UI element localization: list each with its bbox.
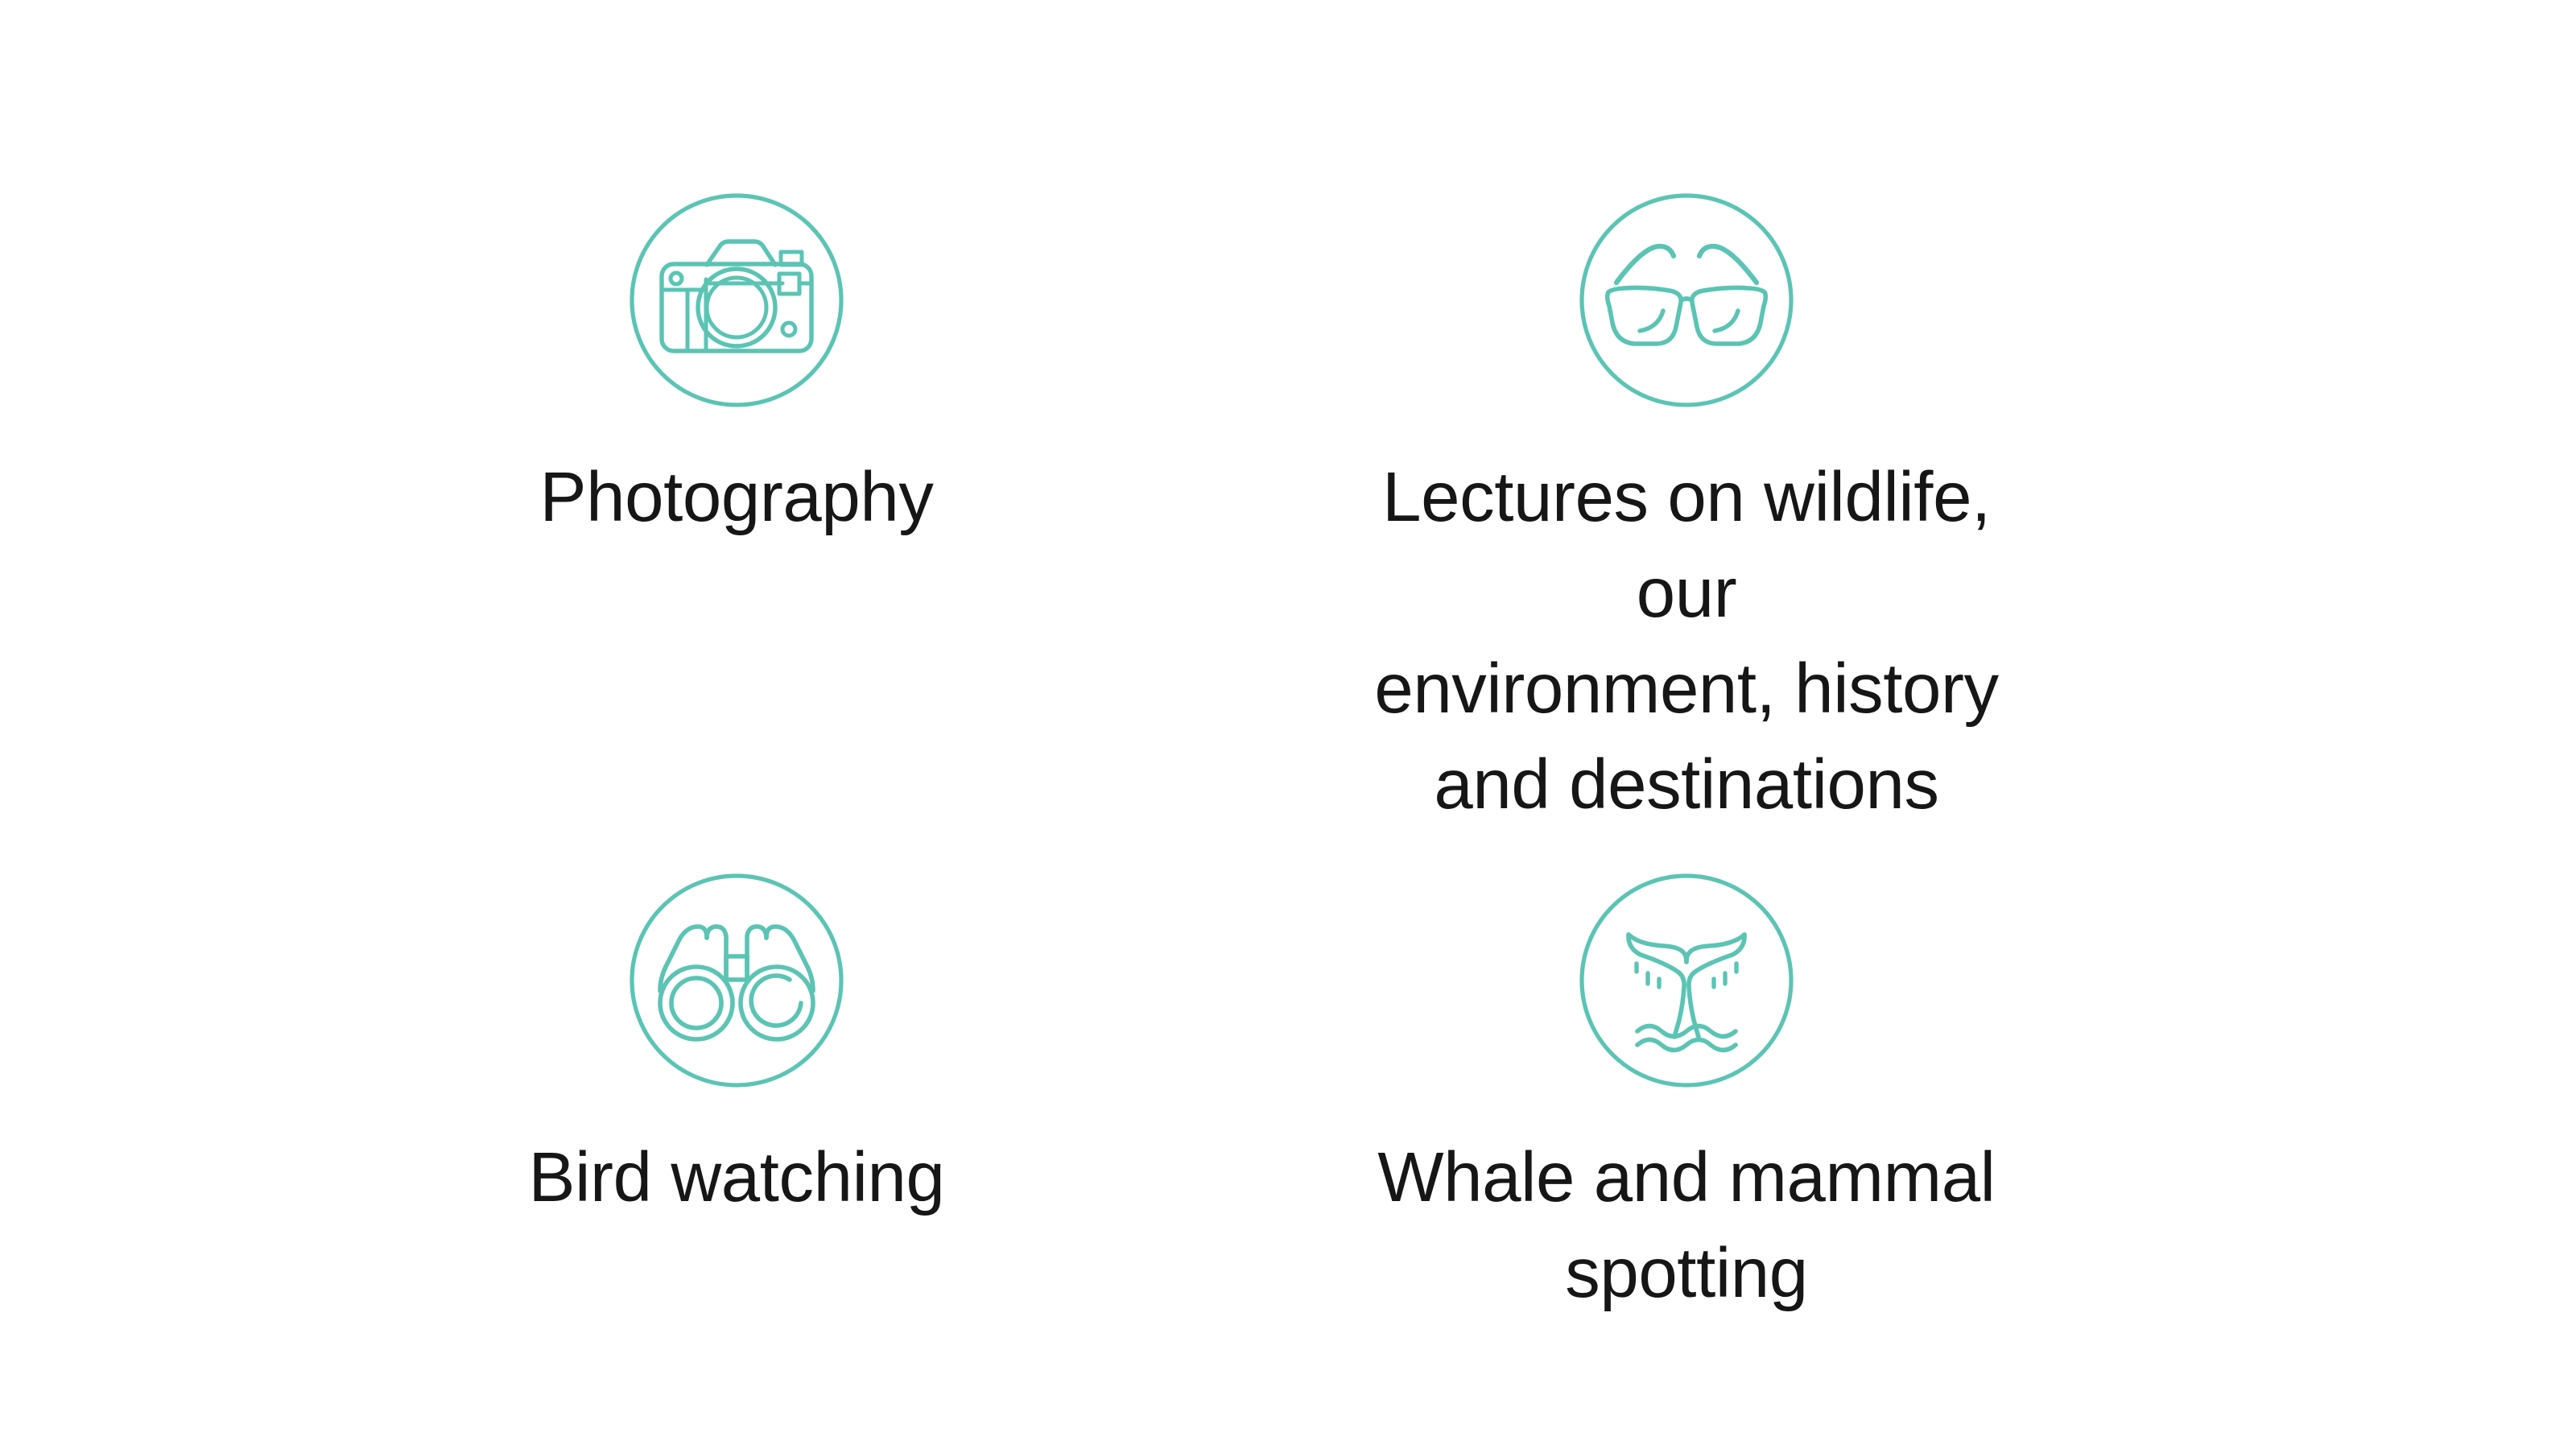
binoculars-icon	[630, 873, 844, 1088]
camera-icon	[630, 193, 844, 407]
feature-item-lectures[interactable]: Lectures on wildlife, our environment, h…	[1324, 193, 2049, 832]
whale-tail-icon	[1579, 873, 1794, 1088]
feature-item-bird-watching[interactable]: Bird watching	[374, 873, 1099, 1225]
glasses-icon	[1579, 193, 1794, 407]
feature-label-bird-watching: Bird watching	[374, 1129, 1099, 1225]
feature-item-whale-spotting[interactable]: Whale and mammal spotting	[1324, 873, 2049, 1321]
feature-label-photography: Photography	[374, 449, 1099, 545]
feature-label-whale-spotting: Whale and mammal spotting	[1324, 1129, 2049, 1321]
feature-grid: Photography	[0, 0, 2576, 1449]
feature-item-photography[interactable]: Photography	[374, 193, 1099, 545]
feature-label-lectures: Lectures on wildlife, our environment, h…	[1324, 449, 2049, 832]
